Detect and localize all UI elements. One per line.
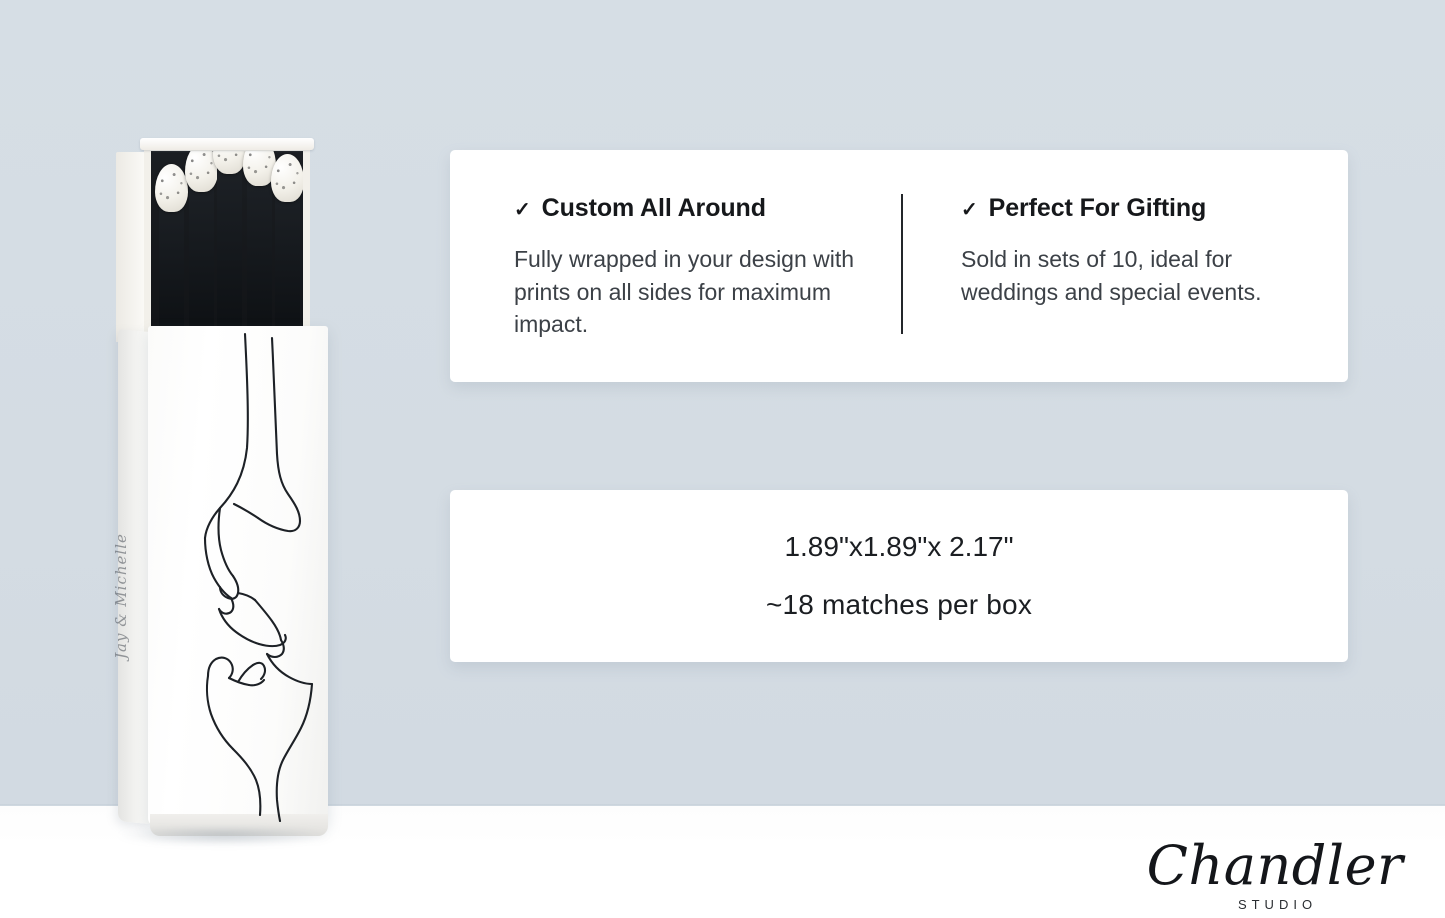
feature-title: Perfect For Gifting <box>989 194 1207 223</box>
brand-subtitle: STUDIO <box>1145 897 1405 912</box>
hands-line-art-illustration <box>148 332 328 822</box>
feature-heading: ✓ Custom All Around <box>514 194 859 223</box>
brand-logo: Chandler STUDIO <box>1145 839 1405 912</box>
check-icon: ✓ <box>961 200 978 220</box>
tray-top-rim <box>140 138 314 150</box>
matchbox-sleeve: Jay & Michelle <box>110 326 328 838</box>
match-stick <box>159 194 184 344</box>
match-stick <box>275 188 300 344</box>
feature-heading: ✓ Perfect For Gifting <box>961 194 1306 223</box>
match-head-icon <box>271 154 304 202</box>
product-capacity: ~18 matches per box <box>766 589 1032 621</box>
match-stick <box>247 176 272 344</box>
tray-left-side <box>116 152 146 342</box>
feature-description: Sold in sets of 10, ideal for weddings a… <box>961 243 1306 308</box>
match-head-icon <box>155 164 188 212</box>
features-card: ✓ Custom All Around Fully wrapped in you… <box>450 150 1348 382</box>
feature-custom-all-around: ✓ Custom All Around Fully wrapped in you… <box>450 150 901 382</box>
brand-name: Chandler <box>1145 839 1405 893</box>
match-stick <box>189 180 214 344</box>
personalized-name-script: Jay & Michelle <box>112 446 136 746</box>
match-stick <box>217 166 242 344</box>
feature-description: Fully wrapped in your design with prints… <box>514 243 859 341</box>
feature-title: Custom All Around <box>542 194 766 223</box>
product-dimensions: 1.89"x1.89"x 2.17" <box>784 531 1013 563</box>
two-hands-reaching-svg <box>148 332 328 822</box>
specifications-card: 1.89"x1.89"x 2.17" ~18 matches per box <box>450 490 1348 662</box>
product-infographic: Jay & Michelle ✓ Custom All Around Fully… <box>0 0 1445 918</box>
check-icon: ✓ <box>514 200 531 220</box>
product-contact-shadow <box>118 828 330 846</box>
feature-perfect-for-gifting: ✓ Perfect For Gifting Sold in sets of 10… <box>901 194 1348 334</box>
product-photo: Jay & Michelle <box>104 138 344 838</box>
match-tray <box>144 144 310 344</box>
